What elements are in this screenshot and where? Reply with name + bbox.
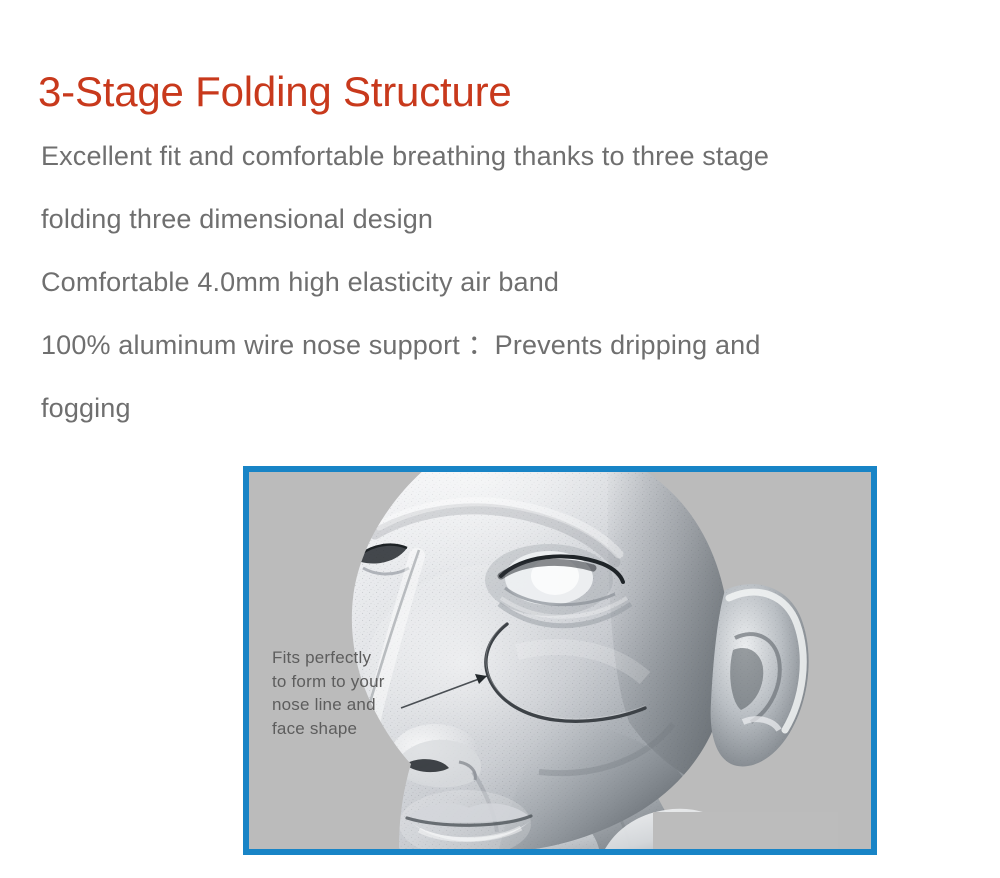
caption-line: nose line and (272, 695, 376, 714)
figure-image: Fits perfectly to form to your nose line… (249, 472, 871, 849)
description-line: Comfortable 4.0mm high elasticity air ba… (41, 251, 981, 314)
page-title: 3-Stage Folding Structure (38, 66, 512, 118)
description-line: fogging (41, 377, 981, 440)
product-figure: Fits perfectly to form to your nose line… (243, 466, 877, 855)
caption-line: face shape (272, 719, 357, 738)
product-detail-page: 3-Stage Folding Structure Excellent fit … (0, 0, 1000, 878)
caption-line: to form to your (272, 672, 385, 691)
description-line: 100% aluminum wire nose support ：Prevent… (41, 314, 981, 377)
feature-description: Excellent fit and comfortable breathing … (41, 125, 981, 440)
description-line: Excellent fit and comfortable breathing … (41, 125, 981, 188)
figure-caption: Fits perfectly to form to your nose line… (272, 646, 385, 740)
image-patch (653, 812, 838, 849)
caption-line: Fits perfectly (272, 648, 371, 667)
description-line: folding three dimensional design (41, 188, 981, 251)
